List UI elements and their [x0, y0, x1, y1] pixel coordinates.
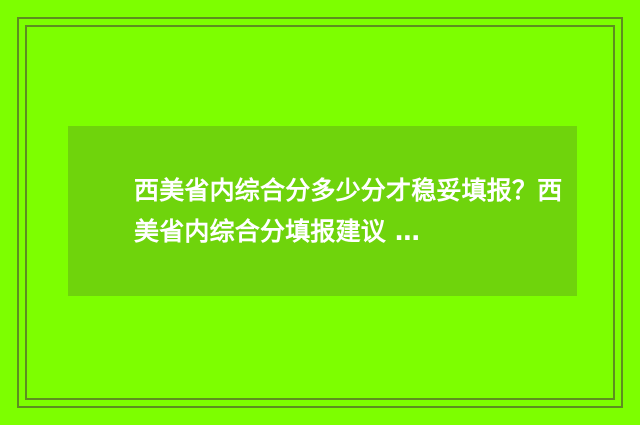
caption-panel: 西美省内综合分多少分才稳妥填报？西美省内综合分填报建议 … — [68, 126, 577, 296]
caption-title-text: 西美省内综合分多少分才稳妥填报？西美省内综合分填报建议 … — [68, 170, 577, 252]
thumbnail-canvas: 西美省内综合分多少分才稳妥填报？西美省内综合分填报建议 … — [0, 0, 640, 425]
